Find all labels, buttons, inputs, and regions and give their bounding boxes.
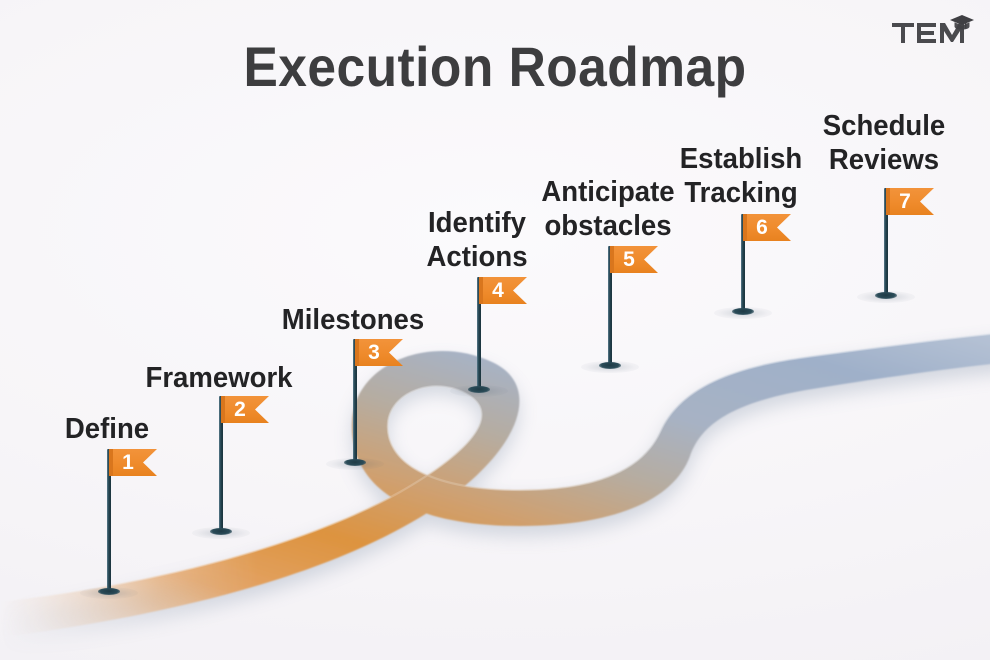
roadmap-infographic: Execution Roadmap Define1Framework2Miles… <box>0 0 990 660</box>
milestone-flag[interactable]: 5 <box>610 246 658 273</box>
milestone-label: Schedule Reviews <box>823 109 945 177</box>
milestone-flag[interactable]: 6 <box>743 214 791 241</box>
milestone-flag[interactable]: 4 <box>479 277 527 304</box>
milestone-label: Identify Actions <box>426 206 527 274</box>
flag-pole-base <box>875 292 897 299</box>
road-layer <box>0 0 990 660</box>
flag-pole-base <box>98 588 120 595</box>
milestone-2[interactable]: Framework <box>142 361 297 400</box>
tem-logo-wordmark <box>892 23 964 43</box>
milestone-7[interactable]: Schedule Reviews <box>820 109 949 182</box>
milestone-flag[interactable]: 7 <box>886 188 934 215</box>
flag-pole-base <box>732 308 754 315</box>
milestone-label: Define <box>65 412 149 446</box>
milestone-4[interactable]: Identify Actions <box>424 206 530 279</box>
flag-pole-base <box>210 528 232 535</box>
milestone-flag[interactable]: 3 <box>355 339 403 366</box>
milestone-label: Anticipate obstacles <box>541 175 674 243</box>
milestone-3[interactable]: Milestones <box>278 303 428 342</box>
milestone-6[interactable]: Establish Tracking <box>677 142 806 215</box>
milestone-1[interactable]: Define <box>63 412 152 451</box>
milestone-flag[interactable]: 2 <box>221 396 269 423</box>
flag-pole-base <box>468 386 490 393</box>
milestone-label: Establish Tracking <box>680 142 802 210</box>
milestone-5[interactable]: Anticipate obstacles <box>538 175 678 248</box>
graduation-cap-icon <box>950 15 974 30</box>
page-title: Execution Roadmap <box>40 34 951 99</box>
tem-logo[interactable] <box>890 12 974 48</box>
milestone-flag[interactable]: 1 <box>109 449 157 476</box>
flag-pole-base <box>344 459 366 466</box>
milestone-label: Framework <box>146 361 293 395</box>
flag-pole-base <box>599 362 621 369</box>
milestone-label: Milestones <box>282 303 424 337</box>
